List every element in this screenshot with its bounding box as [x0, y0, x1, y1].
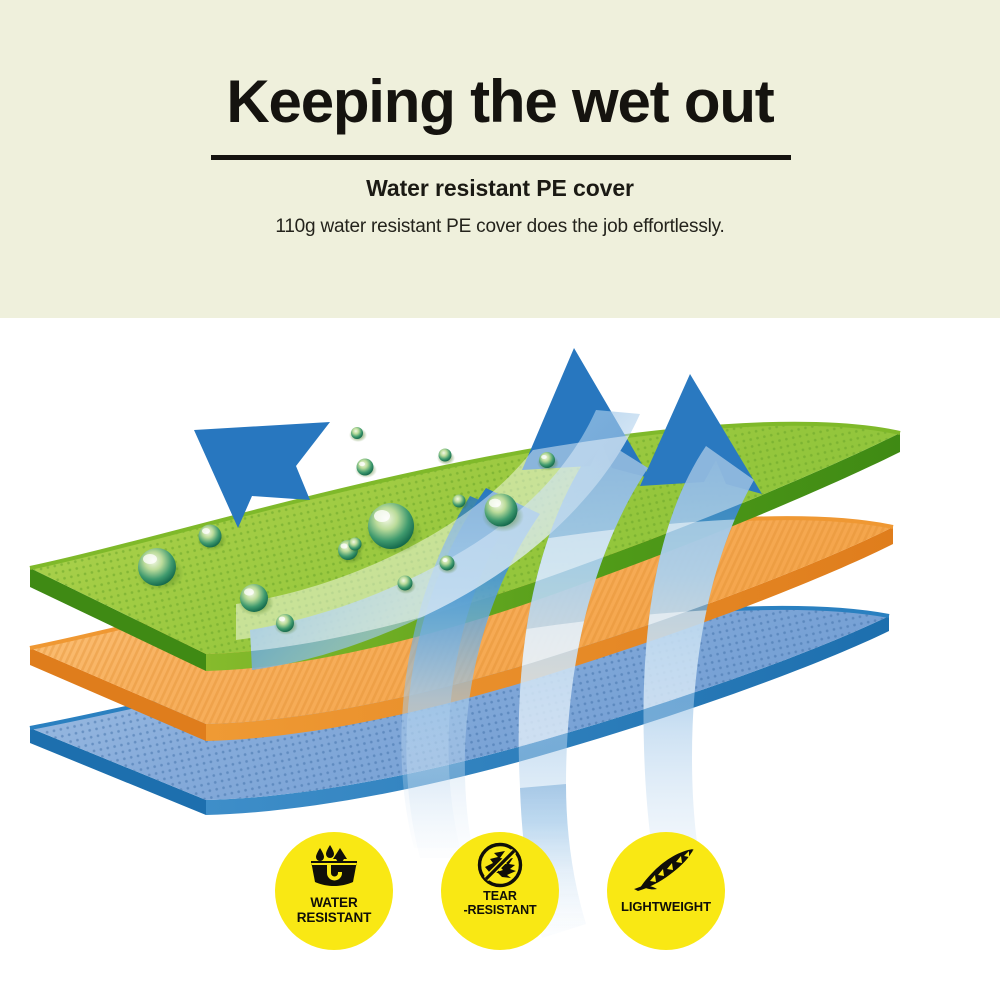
- feature-badge-row: WATER RESISTANT TEAR -RESISTANT: [0, 832, 1000, 972]
- tear-resistant-icon: [476, 842, 524, 888]
- water-resistant-icon: [305, 842, 363, 894]
- badge-tear-resistant[interactable]: TEAR -RESISTANT: [441, 832, 559, 950]
- badge-label-lightweight: LIGHTWEIGHT: [621, 900, 711, 914]
- product-feature-page: Keeping the wet out Water resistant PE c…: [0, 0, 1000, 1000]
- badge-label-water-resistant: WATER RESISTANT: [297, 896, 372, 925]
- header-band: Keeping the wet out Water resistant PE c…: [0, 0, 1000, 318]
- droplet: [437, 449, 455, 466]
- title-divider: [211, 155, 791, 160]
- feather-icon: [630, 842, 702, 898]
- badge-lightweight[interactable]: LIGHTWEIGHT: [607, 832, 725, 950]
- badge-water-resistant[interactable]: WATER RESISTANT: [275, 832, 393, 950]
- page-title: Keeping the wet out: [0, 72, 1000, 132]
- page-subtitle: Water resistant PE cover: [0, 175, 1000, 202]
- badge-label-tear-resistant: TEAR -RESISTANT: [463, 890, 536, 917]
- page-description: 110g water resistant PE cover does the j…: [0, 216, 1000, 238]
